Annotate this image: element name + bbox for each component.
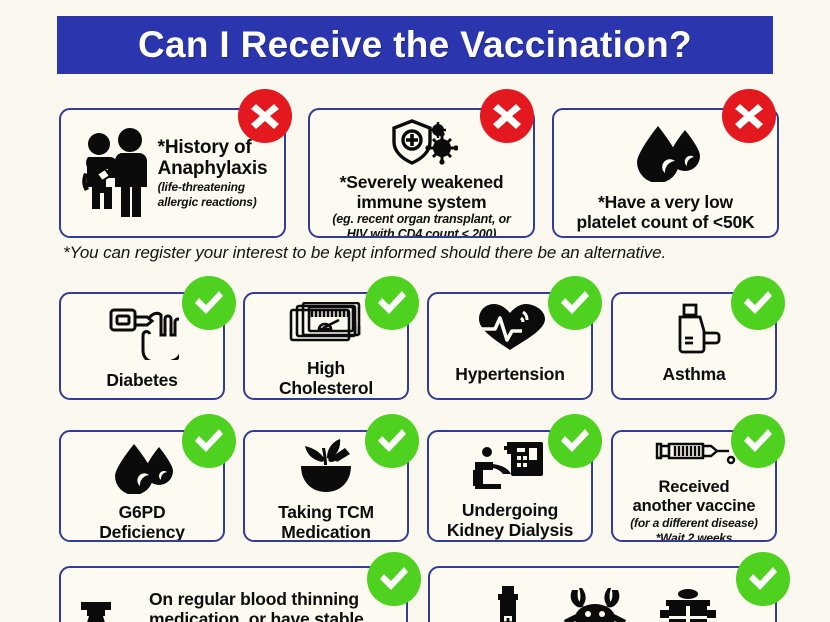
card-label-line-1: *History of [158, 138, 252, 158]
card-text-block: Received another vaccine (for a differen… [630, 479, 757, 540]
inhaler-icon [666, 302, 722, 361]
check-badge [365, 276, 419, 330]
card-label-line-2: medication, or have stable [149, 610, 364, 622]
card-text-block: *Severely weakened immune system (eg. re… [332, 173, 510, 236]
card-label-line-2: Kidney Dialysis [447, 521, 573, 539]
check-badge [736, 552, 790, 606]
shield-virus-icon [386, 118, 458, 171]
card-label-line-1: High [307, 359, 345, 377]
check-badge [548, 276, 602, 330]
blood-bag-icon [71, 594, 127, 622]
card-label-line-1: Diabetes [106, 371, 177, 389]
card-label-line-2: immune system [357, 193, 487, 211]
footnote-text: *You can register your interest to be ke… [63, 243, 803, 263]
card-label-line-2: platelet count of <50K [577, 213, 755, 231]
card-text-block: Diabetes [106, 371, 177, 389]
card-label-line-1: On regular blood thinning [149, 590, 359, 608]
card-label-line-2: Deficiency [99, 523, 185, 540]
card-text-block: *History of Anaphylaxis (life-threatenin… [158, 138, 268, 208]
cross-badge [722, 89, 776, 143]
card-sublabel-line-2: HIV with CD4 count < 200) [347, 228, 497, 236]
check-badge [731, 276, 785, 330]
check-badge [367, 552, 421, 606]
card-label-line-2: Cholesterol [279, 379, 373, 397]
poster-title-banner: Can I Receive the Vaccination? [57, 16, 773, 74]
poster-canvas: Can I Receive the Vaccination? [0, 0, 830, 622]
card-label-line-1: Taking TCM [278, 503, 374, 521]
cross-badge [238, 89, 292, 143]
card-text-block: G6PD Deficiency [99, 503, 185, 540]
check-badge [548, 414, 602, 468]
card-text-block: Asthma [663, 365, 726, 383]
page-title: Can I Receive the Vaccination? [138, 24, 692, 66]
card-text-block: On regular blood thinning medication, or… [149, 590, 364, 622]
vaccination-injection-icon [78, 125, 154, 222]
card-sublabel-line-2: allergic reactions) [158, 196, 257, 209]
card-text-block: Undergoing Kidney Dialysis [447, 501, 573, 539]
card-text-block: High Cholesterol [279, 359, 373, 397]
card-sublabel-line-1: (life-threatening [158, 181, 245, 194]
card-label-line-2: Medication [281, 523, 370, 540]
check-badge [365, 414, 419, 468]
gauge-meter-icon [287, 302, 365, 355]
heart-pulse-icon [475, 302, 545, 359]
card-label-line-1: Hypertension [455, 365, 564, 383]
card-food-allergies[interactable] [428, 566, 777, 622]
card-text-block: Taking TCM Medication [278, 503, 374, 540]
card-sublabel-line-1: (for a different disease) [630, 517, 757, 530]
card-blood-thinning-medication[interactable]: On regular blood thinning medication, or… [59, 566, 408, 622]
check-badge [182, 276, 236, 330]
dialysis-machine-icon [471, 440, 549, 495]
check-badge [182, 414, 236, 468]
card-text-block: *Have a very low platelet count of <50K [577, 193, 755, 231]
card-label-line-1: Received [659, 479, 730, 496]
card-text-block: Hypertension [455, 365, 564, 383]
cross-badge [480, 89, 534, 143]
crab-shellfish-icon [562, 584, 628, 622]
card-label-line-2: another vaccine [633, 498, 756, 515]
card-label-line-2: Anaphylaxis [158, 159, 268, 179]
card-label-line-1: G6PD [119, 503, 166, 521]
blood-drops-icon [629, 124, 703, 187]
mortar-pestle-herb-icon [295, 438, 357, 499]
card-sublabel-line-2: *Wait 2 weeks [656, 532, 733, 540]
blood-drops-icon [109, 442, 175, 499]
card-sublabel-line-1: (eg. recent organ transplant, or [332, 213, 510, 226]
card-label-line-1: Asthma [663, 365, 726, 383]
glucose-meter-icon [105, 304, 179, 365]
check-badge [731, 414, 785, 468]
syringe-icon [651, 438, 737, 477]
card-label-line-1: *Severely weakened [340, 173, 504, 191]
food-pot-icon [658, 584, 718, 622]
card-label-line-1: *Have a very low [598, 193, 733, 211]
card-label-line-1: Undergoing [462, 501, 558, 519]
medicine-bottle-icon [488, 584, 532, 622]
